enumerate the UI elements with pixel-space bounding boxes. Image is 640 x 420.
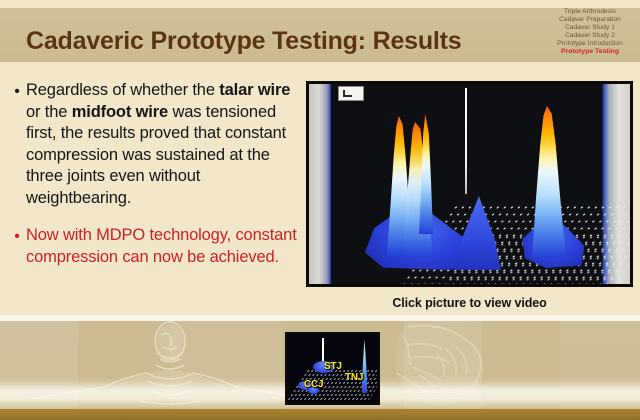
pressure-map-image (309, 84, 630, 284)
page-title: Cadaveric Prototype Testing: Results (26, 27, 462, 56)
thumbnail-label-tnj: TNJ (345, 372, 363, 383)
nav-item-triple-arthrodesis[interactable]: Triple Arthrodesis (542, 8, 638, 16)
frame-label-icon (338, 86, 364, 101)
nav-item-prototype-testing[interactable]: Prototype Testing (542, 48, 638, 56)
thumbnail-spike (362, 339, 367, 393)
slide: Cadaveric Prototype Testing: Results Tri… (0, 0, 640, 420)
list-item: • Now with MDPO technology, constant com… (8, 225, 303, 268)
vertical-rod (465, 88, 468, 194)
pressure-peak-4 (532, 106, 566, 258)
bullet-segment: or the (26, 103, 72, 121)
video-picture[interactable] (306, 81, 633, 287)
nav-item-cadaver-preparation[interactable]: Cadaver Preparation (542, 16, 638, 24)
scene-left-wall (309, 84, 331, 284)
joint-thumbnail[interactable]: STJ TNJ CCJ (285, 332, 380, 405)
nav-item-cadaver-study-1[interactable]: Cadaver Study 1 (542, 24, 638, 32)
bullet-segment-bold: talar wire (219, 81, 290, 99)
picture-caption: Click picture to view video (306, 296, 633, 310)
thumbnail-label-ccj: CCJ (304, 379, 323, 390)
list-item: • Regardless of whether the talar wire o… (8, 80, 303, 209)
bullet-text: Now with MDPO technology, constant compr… (26, 225, 303, 268)
nav-item-cadaver-study-2[interactable]: Cadaver Study 2 (542, 32, 638, 40)
bullet-segment: Now with MDPO technology, constant compr… (26, 226, 297, 266)
bullet-segment-bold: midfoot wire (72, 103, 168, 121)
bullet-segment: Regardless of whether the (26, 81, 219, 99)
bullet-text: Regardless of whether the talar wire or … (26, 80, 303, 209)
bullet-marker-icon: • (8, 80, 26, 103)
thumbnail-label-stj: STJ (324, 361, 342, 372)
bullet-marker-icon: • (8, 225, 26, 248)
bottom-accent-bar (0, 409, 640, 420)
section-nav[interactable]: Triple Arthrodesis Cadaver Preparation C… (542, 8, 638, 57)
bullet-list: • Regardless of whether the talar wire o… (8, 80, 303, 268)
top-strip (0, 0, 640, 8)
nav-item-prototype-introduction[interactable]: Prototype Introduction (542, 40, 638, 48)
